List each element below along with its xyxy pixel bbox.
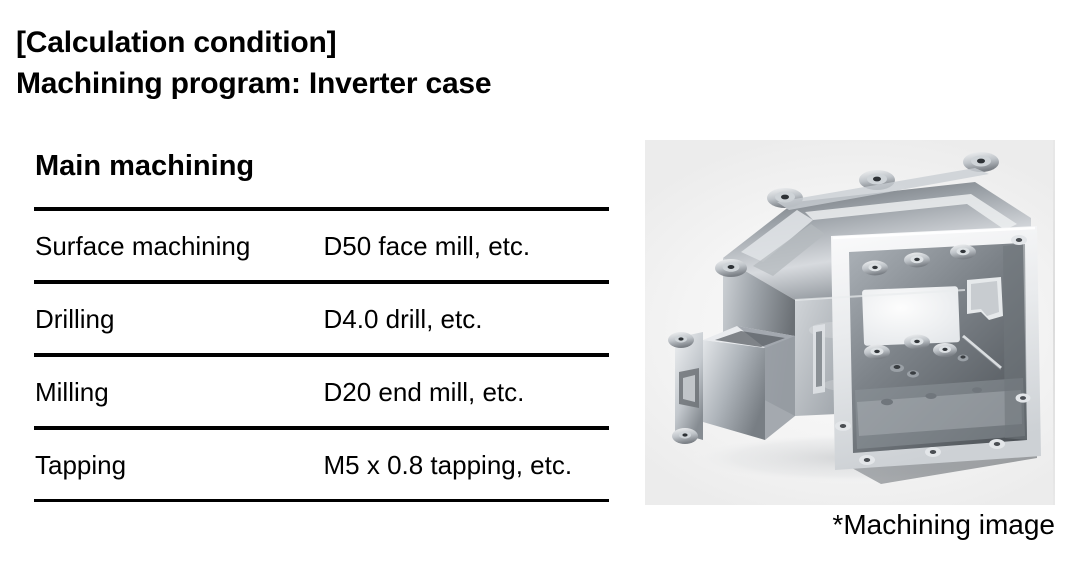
- left-mounting-boss: [715, 259, 747, 277]
- page-title: [Calculation condition] Machining progra…: [16, 22, 696, 104]
- table-rule-bottom: [34, 501, 609, 503]
- machining-operations-table: Surface machining D50 face mill, etc. Dr…: [34, 207, 609, 502]
- table-row: Tapping M5 x 0.8 tapping, etc.: [34, 430, 609, 501]
- operation-label: Milling: [34, 357, 322, 428]
- lower-left-block: [703, 340, 765, 440]
- machining-image: [645, 140, 1055, 505]
- operation-tool: D20 end mill, etc.: [322, 357, 610, 428]
- section-heading-main-machining: Main machining: [35, 148, 609, 184]
- photo-right-edge: [1053, 140, 1055, 505]
- inverter-case-illustration: [645, 140, 1055, 505]
- left-flange-plate: [668, 332, 703, 444]
- table-row: Drilling D4.0 drill, etc.: [34, 284, 609, 355]
- slide-canvas: [Calculation condition] Machining progra…: [0, 0, 1065, 567]
- photo-frame: [645, 140, 1055, 505]
- operation-tool: D4.0 drill, etc.: [322, 284, 610, 355]
- title-line-calculation-condition: [Calculation condition]: [16, 22, 696, 63]
- operation-tool: M5 x 0.8 tapping, etc.: [322, 430, 610, 501]
- table-row: Surface machining D50 face mill, etc.: [34, 211, 609, 282]
- operation-tool: D50 face mill, etc.: [322, 211, 610, 282]
- operation-label: Tapping: [34, 430, 322, 501]
- operation-label: Drilling: [34, 284, 322, 355]
- title-line-machining-program: Machining program: Inverter case: [16, 63, 696, 104]
- table-row: Milling D20 end mill, etc.: [34, 357, 609, 428]
- main-machining-section: Main machining Surface machining D50 fac…: [34, 148, 609, 502]
- photo-caption: *Machining image: [700, 508, 1055, 542]
- operation-label: Surface machining: [34, 211, 322, 282]
